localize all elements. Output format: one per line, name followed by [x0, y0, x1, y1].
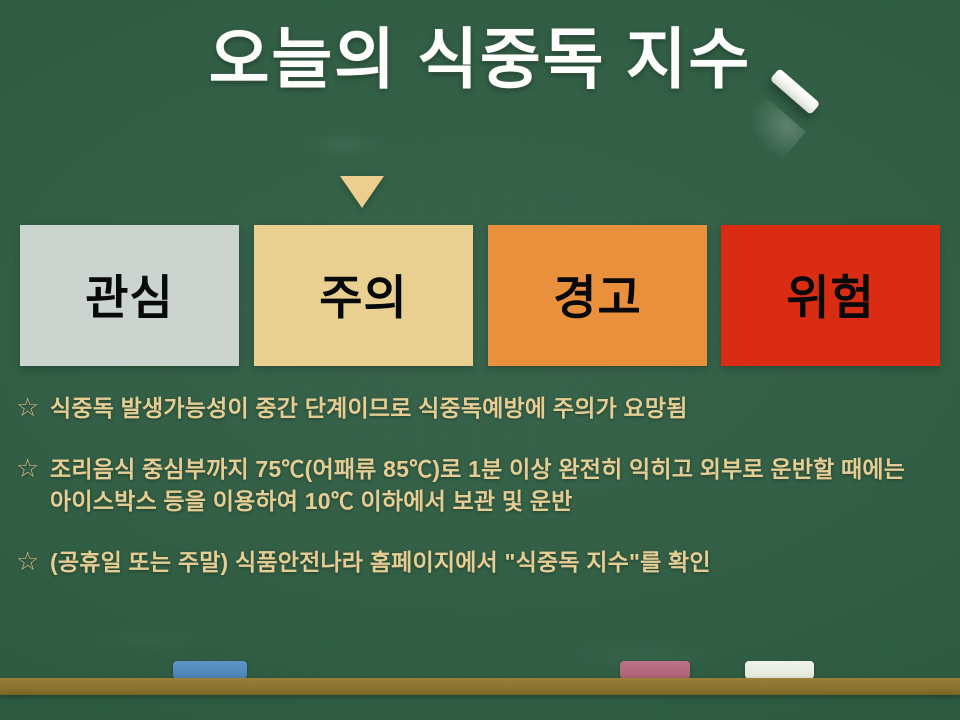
star-bullet-icon: ☆: [16, 453, 50, 483]
level-box-wiheom[interactable]: 위험: [721, 225, 940, 366]
white-chalk-icon: [745, 661, 814, 679]
list-item: ☆ (공휴일 또는 주말) 식품안전나라 홈페이지에서 "식중독 지수"를 확인: [16, 546, 946, 579]
page-title: 오늘의 식중독 지수: [0, 26, 960, 92]
pink-chalk-icon: [620, 661, 690, 679]
level-label: 관심: [85, 274, 173, 321]
chalkboard-slide: 오늘의 식중독 지수 관심 주의 경고 위험 ☆ 식중독 발생가능성이 중간 단…: [0, 0, 960, 720]
bullet-list: ☆ 식중독 발생가능성이 중간 단계이므로 식중독예방에 주의가 요망됨 ☆ 조…: [16, 392, 946, 579]
bullet-text: 조리음식 중심부까지 75℃(어패류 85℃)로 1분 이상 완전히 익히고 외…: [50, 453, 930, 518]
chalk-ledge: [0, 678, 960, 695]
chalk-dust-smudge: [736, 94, 806, 162]
level-label: 경고: [553, 274, 641, 321]
blue-chalk-icon: [173, 661, 247, 679]
level-label: 위험: [786, 274, 874, 321]
level-box-gwansim[interactable]: 관심: [20, 225, 239, 366]
down-triangle-pointer-icon: [340, 176, 384, 208]
level-label: 주의: [319, 274, 407, 321]
list-item: ☆ 조리음식 중심부까지 75℃(어패류 85℃)로 1분 이상 완전히 익히고…: [16, 453, 946, 518]
bullet-text: (공휴일 또는 주말) 식품안전나라 홈페이지에서 "식중독 지수"를 확인: [50, 546, 711, 579]
star-bullet-icon: ☆: [16, 392, 50, 422]
list-item: ☆ 식중독 발생가능성이 중간 단계이므로 식중독예방에 주의가 요망됨: [16, 392, 946, 425]
star-bullet-icon: ☆: [16, 546, 50, 576]
level-box-juui[interactable]: 주의: [254, 225, 473, 366]
level-box-gyeonggo[interactable]: 경고: [488, 225, 707, 366]
bullet-text: 식중독 발생가능성이 중간 단계이므로 식중독예방에 주의가 요망됨: [50, 392, 688, 425]
